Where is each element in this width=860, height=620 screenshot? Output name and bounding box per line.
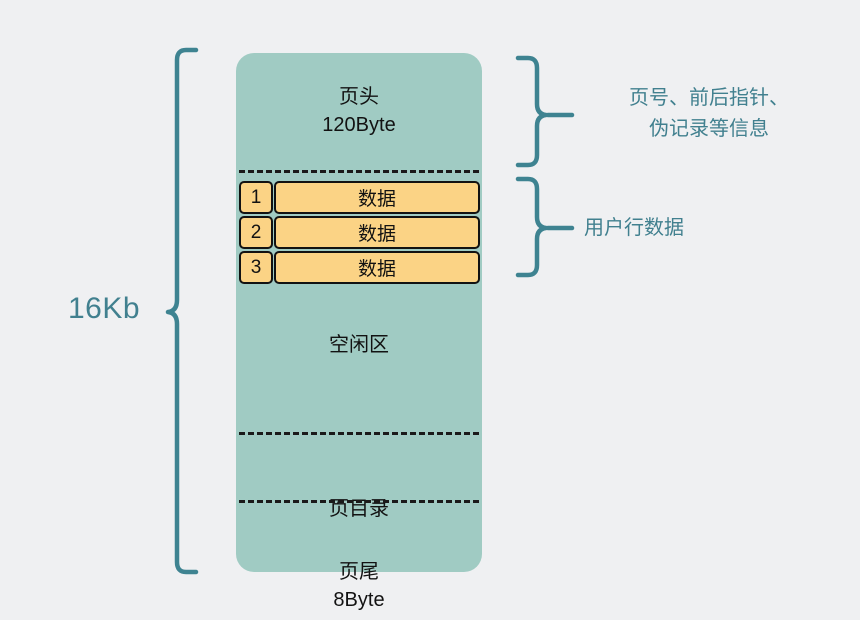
row-index: 2 xyxy=(239,216,273,249)
annotation-page-header-line2: 伪记录等信息 xyxy=(584,114,834,145)
annotation-page-header: 页号、前后指针、 伪记录等信息 xyxy=(584,83,834,145)
section-page-header-size: 120Byte xyxy=(236,111,482,139)
table-row: 2 数据 xyxy=(239,216,480,249)
page-block: 页头 120Byte 1 数据 2 数据 3 数据 空闲区 页目录 xyxy=(236,53,482,572)
divider-header-rows xyxy=(239,170,479,173)
right-brace-rows xyxy=(518,179,546,275)
section-free-space: 空闲区 xyxy=(236,331,482,359)
row-index: 1 xyxy=(239,181,273,214)
row-index: 3 xyxy=(239,251,273,284)
divider-free-directory xyxy=(239,432,479,435)
section-page-footer-title: 页尾 xyxy=(236,558,482,586)
left-brace-16kb xyxy=(168,50,196,572)
section-page-footer-size: 8Byte xyxy=(236,586,482,614)
page-size-label: 16Kb xyxy=(44,292,164,326)
row-data-cell: 数据 xyxy=(274,216,480,249)
table-row: 3 数据 xyxy=(239,251,480,284)
section-page-header: 页头 120Byte xyxy=(236,83,482,139)
right-brace-header xyxy=(518,58,546,165)
annotation-user-rows: 用户行数据 xyxy=(584,213,744,244)
divider-directory-footer xyxy=(239,500,479,503)
section-page-footer: 页尾 8Byte xyxy=(236,558,482,614)
section-free-space-title: 空闲区 xyxy=(236,331,482,359)
row-data-cell: 数据 xyxy=(274,251,480,284)
row-list: 1 数据 2 数据 3 数据 xyxy=(239,181,480,286)
row-data-cell: 数据 xyxy=(274,181,480,214)
diagram-canvas: 16Kb 页头 120Byte 1 数据 2 数据 3 xyxy=(0,0,860,620)
annotation-page-header-line1: 页号、前后指针、 xyxy=(584,83,834,114)
section-page-header-title: 页头 xyxy=(236,83,482,111)
table-row: 1 数据 xyxy=(239,181,480,214)
